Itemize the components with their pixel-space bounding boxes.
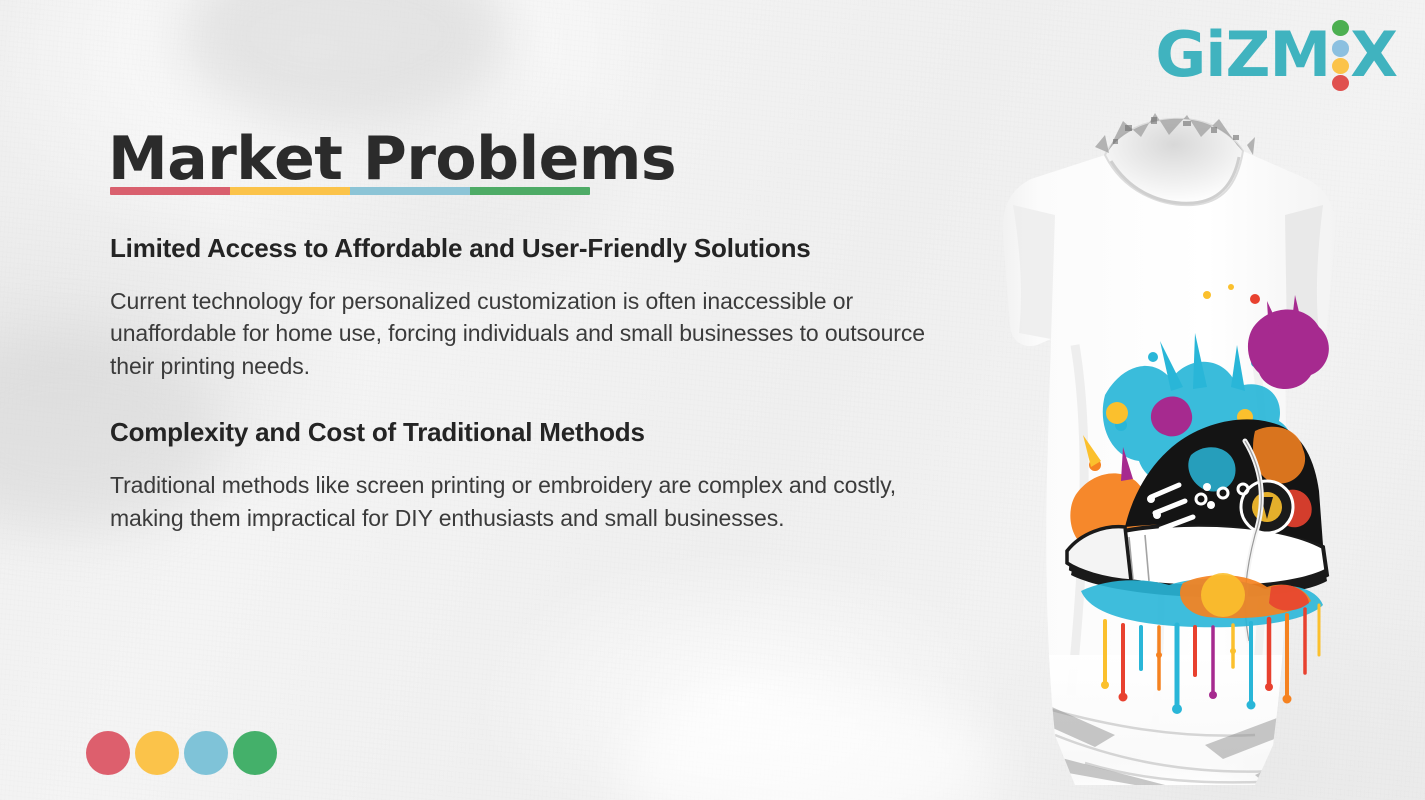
footer-sky-dot-icon bbox=[184, 731, 228, 775]
divider-blue-segment bbox=[350, 187, 470, 195]
page-title: Market Problems bbox=[108, 128, 676, 191]
problem-body-1: Current technology for personalized cust… bbox=[110, 285, 950, 383]
divider-yellow-segment bbox=[230, 187, 350, 195]
logo-text-x: X bbox=[1350, 24, 1397, 86]
logo-green-dot-icon bbox=[1332, 20, 1349, 36]
gizmix-logo[interactable]: GiZM X bbox=[1155, 16, 1397, 94]
footer-rose-dot-icon bbox=[86, 731, 130, 775]
footer-amber-dot-icon bbox=[135, 731, 179, 775]
problem-block-1: Limited Access to Affordable and User-Fr… bbox=[110, 232, 950, 382]
divider-red-segment bbox=[110, 187, 230, 195]
logo-red-dot-icon bbox=[1332, 75, 1349, 91]
divider-green-segment bbox=[470, 187, 590, 195]
logo-dot-column bbox=[1332, 18, 1349, 92]
logo-text-zm: ZM bbox=[1226, 24, 1331, 86]
footer-green-dot-icon bbox=[233, 731, 277, 775]
color-divider bbox=[110, 187, 590, 195]
tshirt-artwork-image bbox=[955, 95, 1415, 785]
content-area: Limited Access to Affordable and User-Fr… bbox=[110, 232, 950, 534]
logo-blue-dot-icon bbox=[1332, 40, 1349, 56]
problem-heading-2: Complexity and Cost of Traditional Metho… bbox=[110, 416, 950, 449]
logo-text-g: G bbox=[1155, 24, 1205, 86]
logo-yellow-dot-icon bbox=[1332, 58, 1349, 74]
slide-canvas: GiZM X Market Problems Limited Access to… bbox=[0, 0, 1425, 800]
logo-text-i: i bbox=[1205, 24, 1225, 86]
problem-block-2: Complexity and Cost of Traditional Metho… bbox=[110, 416, 950, 534]
problem-body-2: Traditional methods like screen printing… bbox=[110, 469, 950, 534]
problem-heading-1: Limited Access to Affordable and User-Fr… bbox=[110, 232, 950, 265]
footer-dot-row bbox=[86, 731, 277, 775]
